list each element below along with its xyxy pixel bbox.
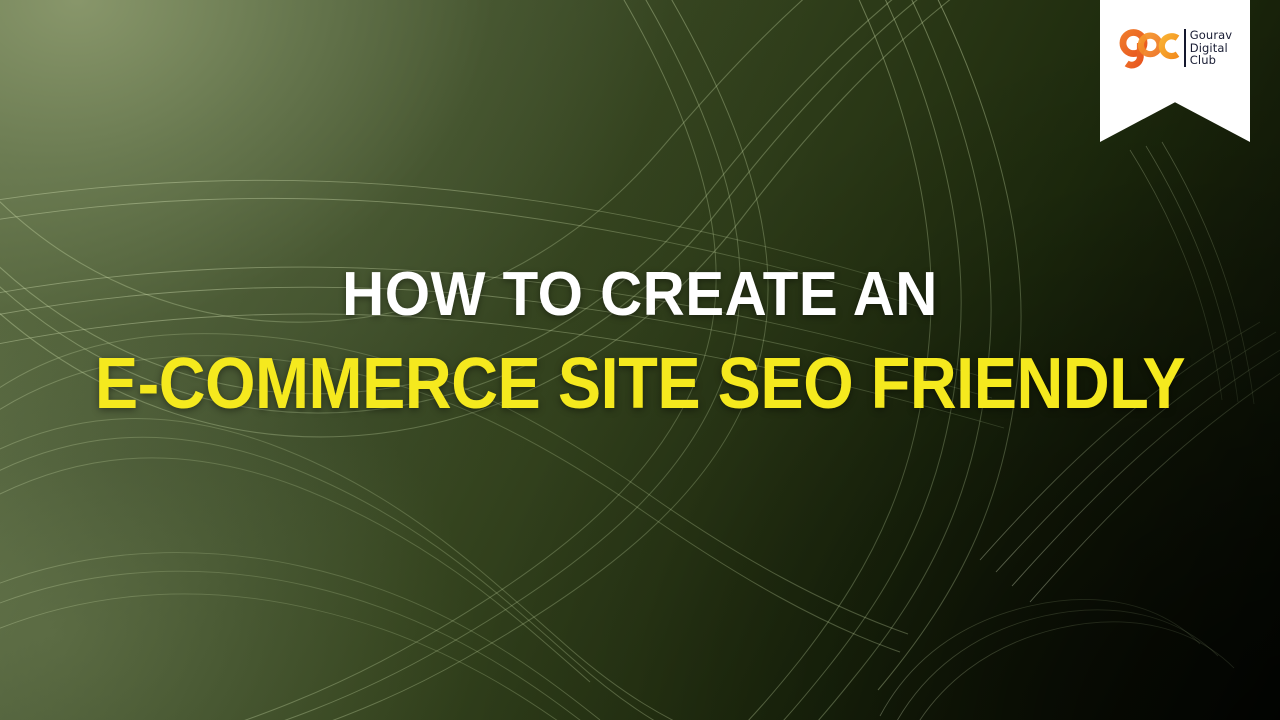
logo-word-3: Club [1190, 54, 1232, 67]
page-title: HOW TO CREATE AN E-COMMERCE SITE SEO FRI… [0, 258, 1280, 426]
gdc-monogram-icon [1118, 26, 1180, 70]
logo-divider [1184, 29, 1186, 67]
logo-word-1: Gourav [1190, 29, 1232, 42]
logo-wordmark: Gourav Digital Club [1190, 29, 1232, 68]
headline-line-1: HOW TO CREATE AN [38, 258, 1241, 332]
thumbnail-banner: HOW TO CREATE AN E-COMMERCE SITE SEO FRI… [0, 0, 1280, 720]
headline-line-2: E-COMMERCE SITE SEO FRIENDLY [64, 342, 1216, 426]
logo-lockup: Gourav Digital Club [1118, 26, 1232, 70]
